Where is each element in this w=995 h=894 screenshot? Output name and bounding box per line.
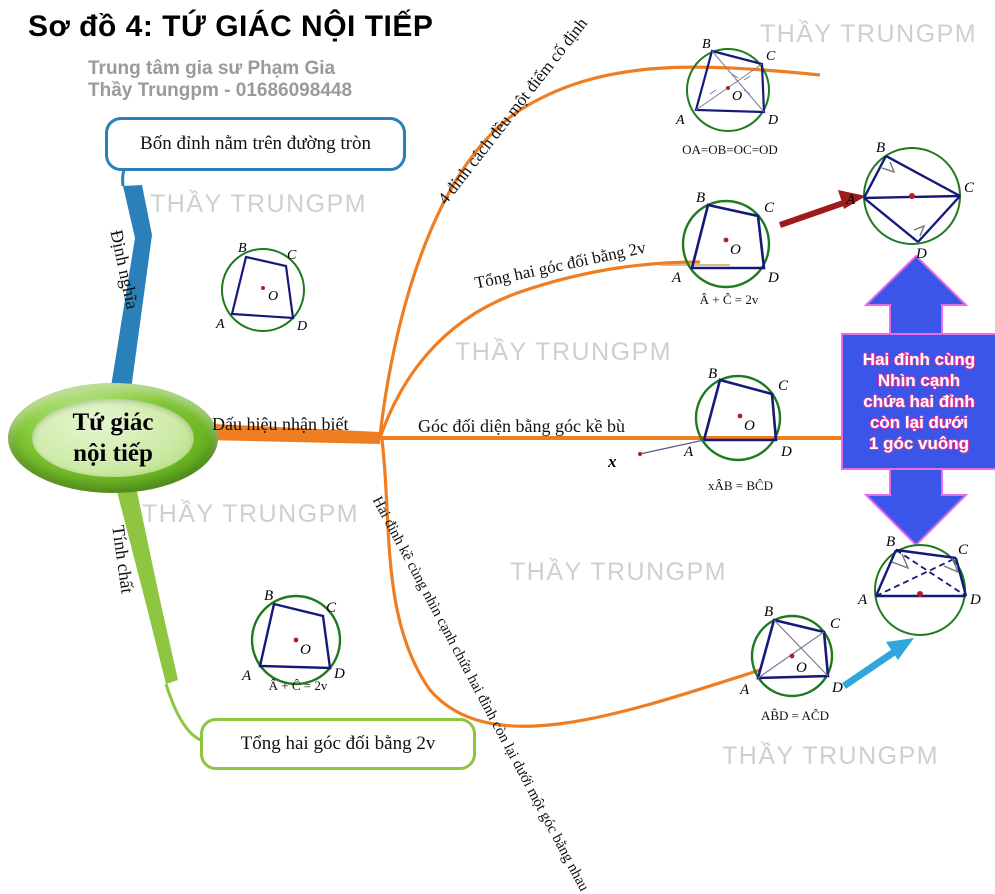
figure-sign-4-caption: AB̂D = AĈD: [730, 708, 860, 724]
callout-line-1: Hai đỉnh cùng: [863, 349, 975, 370]
figure-sign-2: B C A D O: [668, 190, 788, 300]
watermark: THẦY TRUNGPM: [142, 500, 359, 529]
svg-text:O: O: [300, 642, 311, 658]
svg-text:D: D: [767, 270, 779, 286]
callout-line-3: chứa hai đỉnh: [863, 391, 975, 412]
watermark: THẦY TRUNGPM: [760, 20, 977, 49]
figure-sign-2-caption: Â + Ĉ = 2v: [664, 292, 794, 308]
svg-text:C: C: [964, 180, 975, 196]
svg-text:O: O: [730, 242, 741, 258]
svg-text:A: A: [671, 270, 682, 286]
svg-text:A: A: [683, 444, 694, 460]
page-title: Sơ đồ 4: TỨ GIÁC NỘI TIẾP: [28, 10, 433, 44]
svg-text:C: C: [766, 49, 776, 64]
figure-sign-3: B C A D O: [678, 368, 803, 476]
figure-right-angle-top: B C A D: [846, 138, 986, 260]
svg-text:D: D: [831, 680, 843, 696]
svg-text:B: B: [876, 140, 885, 156]
svg-text:C: C: [287, 248, 297, 263]
svg-text:O: O: [732, 89, 742, 104]
svg-text:D: D: [767, 113, 778, 128]
subtitle-line-1: Trung tâm gia sư Phạm Gia: [88, 58, 352, 80]
callout-line-5: 1 góc vuông: [863, 433, 975, 454]
central-node[interactable]: Tứ giác nội tiếp: [8, 383, 218, 493]
watermark: THẦY TRUNGPM: [510, 558, 727, 587]
svg-text:B: B: [702, 37, 711, 52]
property-box-label: Tổng hai góc đối bằng 2v: [241, 733, 436, 755]
figure-right-angle-bottom: B C A D: [858, 530, 990, 648]
svg-text:B: B: [238, 241, 247, 256]
svg-text:D: D: [780, 444, 792, 460]
svg-text:D: D: [296, 319, 307, 334]
subtitle-line-2: Thầy Trungpm - 01686098448: [88, 80, 352, 102]
figure-property-caption: Â + Ĉ = 2v: [238, 678, 358, 694]
svg-text:A: A: [215, 317, 225, 332]
callout-text: Hai đỉnh cùng Nhìn cạnh chứa hai đỉnh cò…: [863, 349, 975, 454]
mindmap-canvas: Sơ đồ 4: TỨ GIÁC NỘI TIẾP Trung tâm gia …: [0, 0, 995, 788]
watermark: THẦY TRUNGPM: [150, 190, 367, 219]
central-node-line-2: nội tiếp: [73, 438, 153, 469]
sign-label-3[interactable]: Góc đối diện bằng góc kề bù: [418, 416, 625, 437]
branch-label-dau-hieu[interactable]: Dấu hiệu nhận biết: [212, 414, 348, 435]
svg-text:B: B: [764, 604, 773, 620]
figure-sign-3-caption: xÂB = BĈD: [678, 478, 803, 494]
watermark: THẦY TRUNGPM: [722, 742, 939, 771]
central-node-label: Tứ giác nội tiếp: [8, 383, 218, 493]
callout-box[interactable]: Hai đỉnh cùng Nhìn cạnh chứa hai đỉnh cò…: [841, 333, 995, 470]
svg-text:B: B: [696, 190, 705, 206]
central-node-line-1: Tứ giác: [73, 407, 154, 438]
svg-text:D: D: [915, 246, 927, 262]
figure-definition-circle: B C A D O: [208, 236, 318, 344]
svg-text:A: A: [739, 682, 750, 698]
svg-text:A: A: [675, 113, 685, 128]
svg-text:D: D: [969, 592, 981, 608]
svg-text:B: B: [886, 534, 895, 550]
svg-text:A: A: [857, 592, 868, 608]
svg-text:C: C: [958, 542, 969, 558]
blue-up-arrow: [866, 256, 966, 334]
callout-line-2: Nhìn cạnh: [863, 370, 975, 391]
figure-sign-4: B C A D O: [736, 606, 854, 710]
page-subtitle: Trung tâm gia sư Phạm Gia Thầy Trungpm -…: [88, 58, 352, 102]
figure-sign-1-caption: OA=OB=OC=OD: [660, 142, 800, 158]
svg-text:B: B: [708, 366, 717, 382]
svg-text:C: C: [326, 600, 337, 616]
svg-text:C: C: [764, 200, 775, 216]
svg-text:B: B: [264, 588, 273, 604]
figure-sign-1: B C A D O: [670, 38, 790, 148]
property-box[interactable]: Tổng hai góc đối bằng 2v: [200, 718, 476, 770]
definition-box-label: Bốn đỉnh nằm trên đường tròn: [140, 133, 371, 155]
svg-text:C: C: [830, 616, 841, 632]
svg-text:C: C: [778, 378, 789, 394]
svg-text:O: O: [268, 289, 278, 304]
svg-text:O: O: [796, 660, 807, 676]
watermark: THẦY TRUNGPM: [455, 338, 672, 367]
svg-text:O: O: [744, 418, 755, 434]
definition-box[interactable]: Bốn đỉnh nằm trên đường tròn: [105, 117, 406, 171]
svg-text:A: A: [845, 192, 856, 208]
callout-line-4: còn lại dưới: [863, 412, 975, 433]
figure-sign-3-point-x: x: [608, 452, 617, 472]
